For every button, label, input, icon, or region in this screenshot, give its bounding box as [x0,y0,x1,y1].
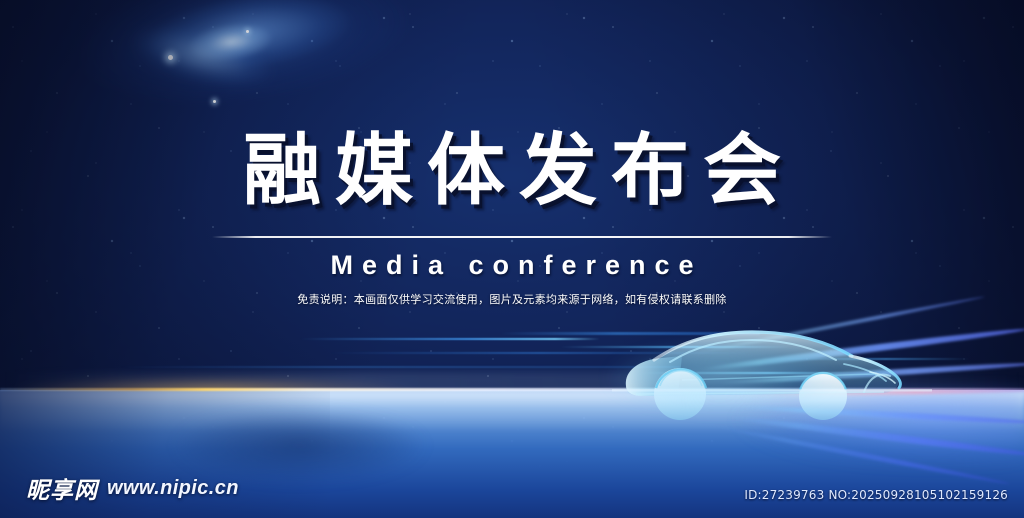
page-title: 融媒体发布会 [0,132,1024,210]
speed-streak [300,338,600,340]
nipic-logo: 昵享网 [26,471,98,505]
car-graphic [612,316,932,428]
nipic-url: www.nipic.cn [107,477,239,500]
speed-streak [120,366,680,368]
watermark: 昵享网 www.nipic.cn [26,471,239,505]
asset-id-code: ID:27239763 NO:20250928105102159126 [744,488,1008,502]
disclaimer-text: 免责说明：本画面仅供学习交流使用，图片及元素均来源于网络，如有侵权请联系删除 [0,291,1024,307]
poster-canvas: 融媒体发布会 Media conference 免责说明：本画面仅供学习交流使用… [0,0,1024,518]
title-divider [212,236,832,238]
page-subtitle: Media conference [0,250,1024,281]
car-glow [606,320,906,424]
